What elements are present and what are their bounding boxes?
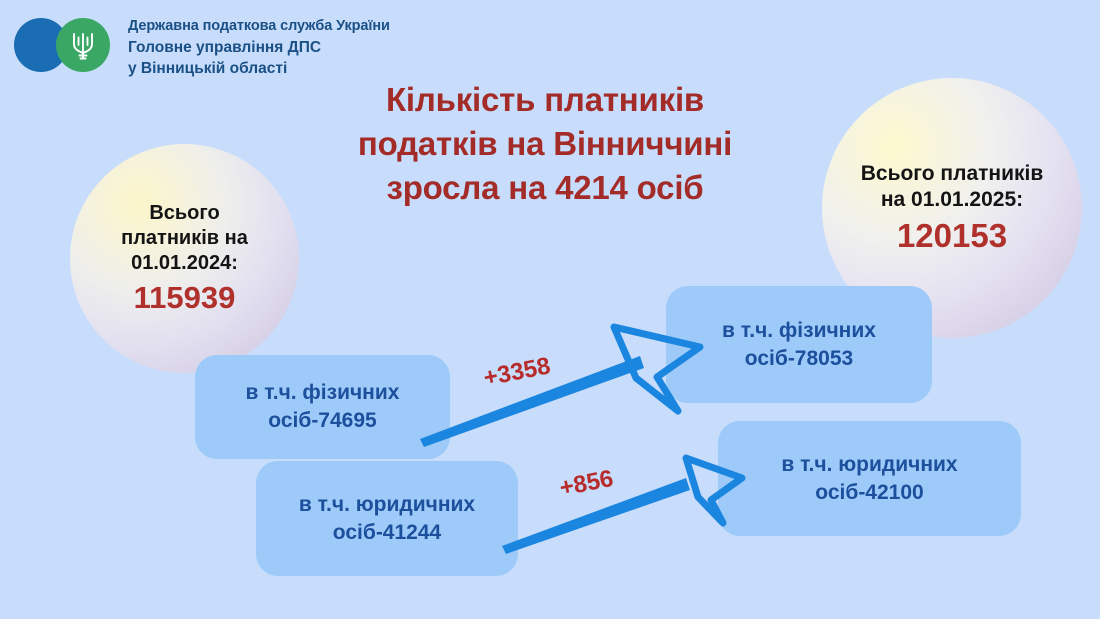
delta-individuals-label: +3358 <box>481 352 553 392</box>
total-payers-2024-label: Всього платників на 01.01.2024: <box>100 201 270 276</box>
total-payers-2025-label: Всього платників на 01.01.2025: <box>850 161 1055 214</box>
box-legal-2024: в т.ч. юридичних осіб-41244 <box>256 461 518 576</box>
total-payers-2024-value: 115939 <box>134 280 236 316</box>
title-line-1: Кількість платників <box>310 78 780 122</box>
total-payers-2024-circle: Всього платників на 01.01.2024: 115939 <box>70 144 299 373</box>
brand-text: Державна податкова служба України Головн… <box>128 16 390 79</box>
total-payers-2025-value: 120153 <box>897 217 1007 255</box>
delta-legal-label: +856 <box>557 465 615 503</box>
arrow-legal-icon <box>502 458 742 554</box>
brand-line-2: Головне управління ДПС <box>128 38 390 58</box>
box-individuals-2024: в т.ч. фізичних осіб-74695 <box>195 355 450 459</box>
page-title: Кількість платників податків на Вінниччи… <box>310 78 780 210</box>
box-legal-2025: в т.ч. юридичних осіб-42100 <box>718 421 1021 536</box>
title-line-2: податків на Вінниччині <box>310 122 780 166</box>
brand-header: Державна податкова служба України Головн… <box>14 16 390 79</box>
infographic-canvas: Державна податкова служба України Головн… <box>0 0 1100 619</box>
ukrainian-trident-icon <box>56 18 110 72</box>
arrow-individuals-icon <box>420 327 700 447</box>
title-line-3: зросла на 4214 осіб <box>310 166 780 210</box>
brand-line-1: Державна податкова служба України <box>128 17 390 36</box>
agency-logo <box>14 16 118 74</box>
box-individuals-2025: в т.ч. фізичних осіб-78053 <box>666 286 932 403</box>
brand-line-3: у Вінницькій області <box>128 59 390 79</box>
